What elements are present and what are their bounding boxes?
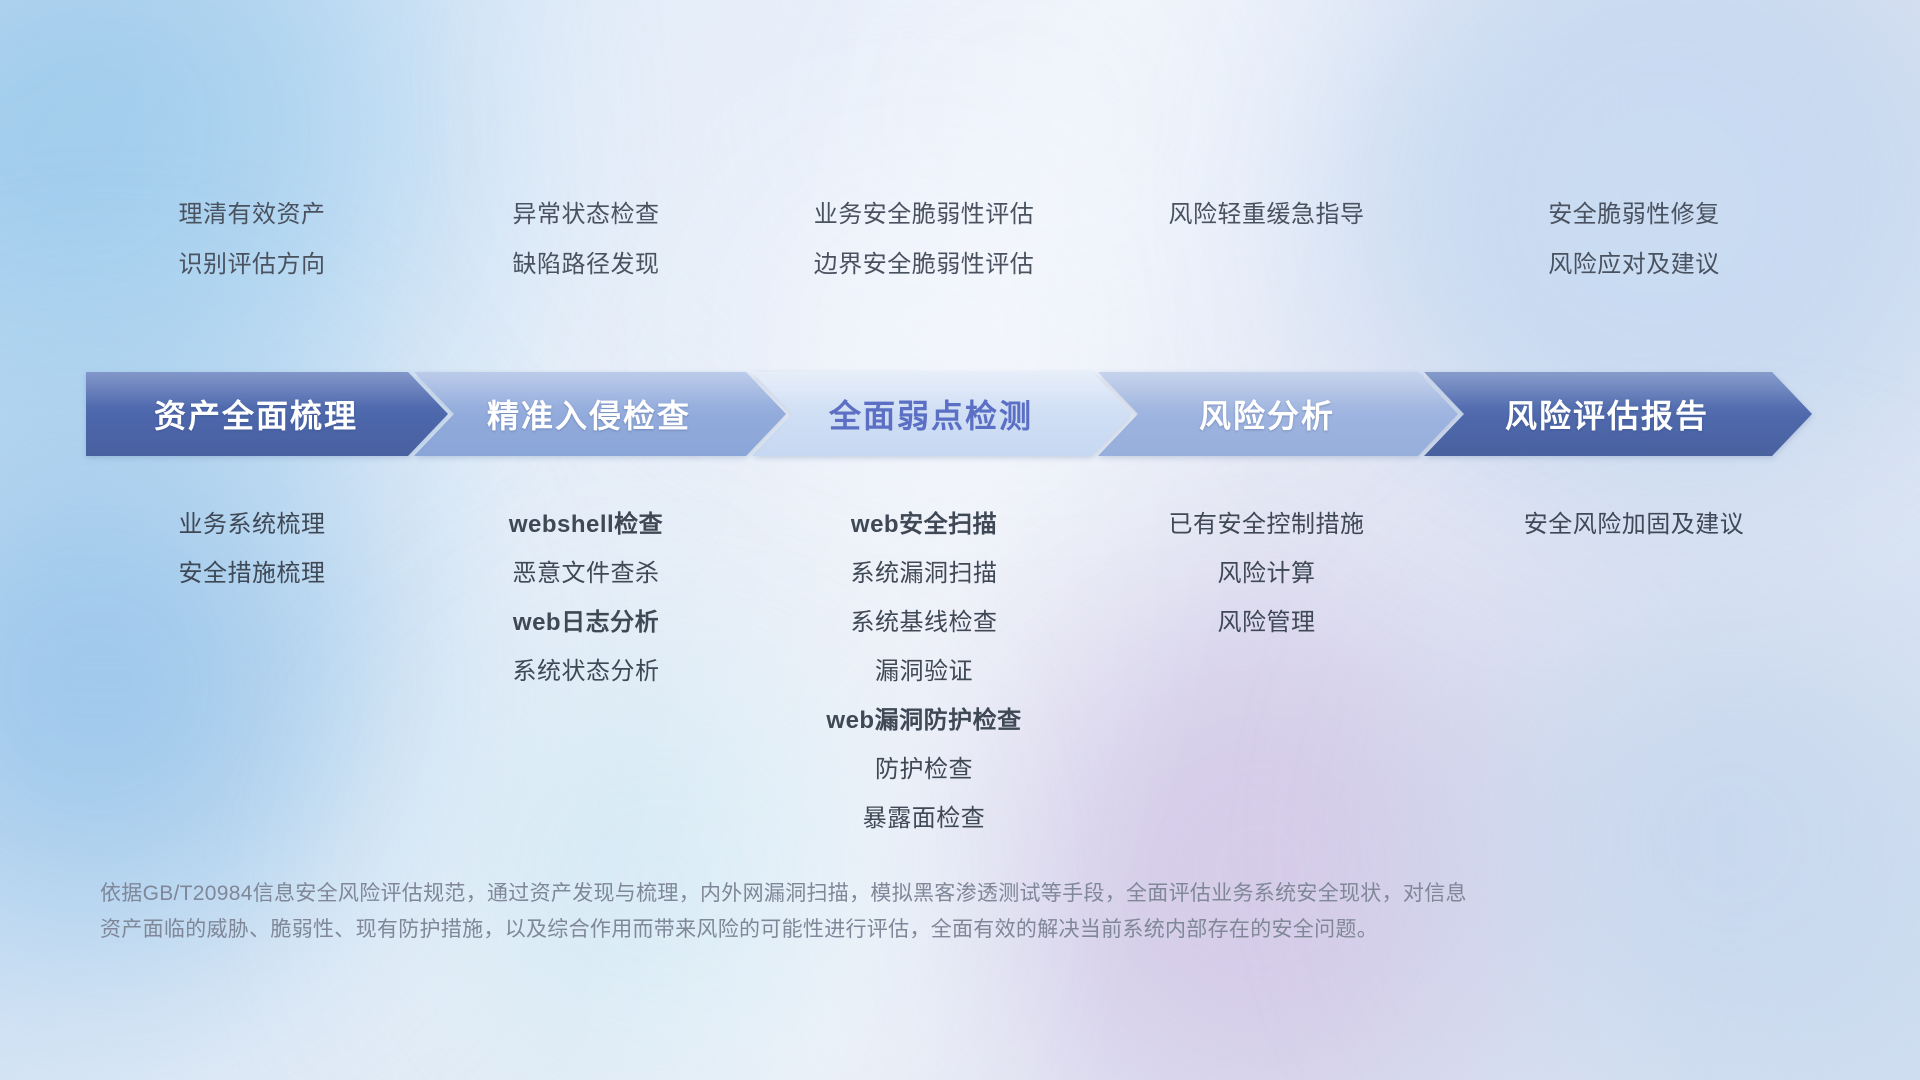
list-item: 恶意文件查杀 (418, 549, 754, 598)
stage-title: 风险分析 (1199, 391, 1357, 437)
top-note: 边界安全脆弱性评估 (754, 240, 1094, 290)
list-item: 已有安全控制措施 (1094, 500, 1439, 549)
stage-title: 资产全面梳理 (154, 391, 380, 437)
top-note: 理清有效资产 (86, 190, 418, 240)
list-item: web安全扫描 (754, 500, 1094, 549)
detail-list-asset-inventory: 业务系统梳理 安全措施梳理 (86, 500, 418, 598)
top-note-col-3: 业务安全脆弱性评估 (754, 190, 1094, 240)
list-item: 业务系统梳理 (86, 500, 418, 549)
top-notes-row-2: 识别评估方向 缺陷路径发现 边界安全脆弱性评估 风险应对及建议 (86, 240, 1846, 290)
stage-title: 风险评估报告 (1505, 391, 1731, 437)
list-item: 系统状态分析 (418, 647, 754, 696)
process-diagram: 理清有效资产 异常状态检查 业务安全脆弱性评估 风险轻重缓急指导 安全脆弱性修复… (0, 0, 1920, 1080)
stage-title: 精准入侵检查 (487, 391, 713, 437)
detail-list-risk-report: 安全风险加固及建议 (1439, 500, 1829, 549)
list-item: 漏洞验证 (754, 647, 1094, 696)
list-item: 风险计算 (1094, 549, 1439, 598)
stage-title: 全面弱点检测 (829, 391, 1055, 437)
top-note: 识别评估方向 (86, 240, 418, 290)
footer-line-1: 依据GB/T20984信息安全风险评估规范，通过资产发现与梳理，内外网漏洞扫描，… (100, 876, 1660, 912)
list-item: 系统基线检查 (754, 598, 1094, 647)
detail-list-weakness-detection: web安全扫描 系统漏洞扫描 系统基线检查 漏洞验证 web漏洞防护检查 防护检… (754, 500, 1094, 843)
top-note-col-1: 识别评估方向 (86, 240, 418, 290)
top-note-col-3: 边界安全脆弱性评估 (754, 240, 1094, 290)
top-note: 安全脆弱性修复 (1439, 190, 1829, 240)
stage-chevron-risk-analysis[interactable]: 风险分析 (1098, 372, 1458, 456)
stage-detail-lists: 业务系统梳理 安全措施梳理 webshell检查 恶意文件查杀 web日志分析 … (86, 500, 1846, 843)
top-note-col-5: 风险应对及建议 (1439, 240, 1829, 290)
list-item: 系统漏洞扫描 (754, 549, 1094, 598)
list-item: 暴露面检查 (754, 794, 1094, 843)
stage-chevron-asset-inventory[interactable]: 资产全面梳理 (86, 372, 448, 456)
top-note-col-1: 理清有效资产 (86, 190, 418, 240)
top-note-col-5: 安全脆弱性修复 (1439, 190, 1829, 240)
stage-chevron-band: 资产全面梳理 精准入侵检查 全面弱点检测 风险分析 风险评估报告 (86, 372, 1846, 456)
top-note: 风险轻重缓急指导 (1094, 190, 1439, 240)
list-item: 防护检查 (754, 745, 1094, 794)
footer-description: 依据GB/T20984信息安全风险评估规范，通过资产发现与梳理，内外网漏洞扫描，… (100, 876, 1660, 948)
detail-list-risk-analysis: 已有安全控制措施 风险计算 风险管理 (1094, 500, 1439, 647)
top-note-col-2: 异常状态检查 (418, 190, 754, 240)
footer-line-2: 资产面临的威胁、脆弱性、现有防护措施，以及综合作用而带来风险的可能性进行评估，全… (100, 912, 1660, 948)
detail-list-intrusion-check: webshell检查 恶意文件查杀 web日志分析 系统状态分析 (418, 500, 754, 696)
stage-chevron-weakness-detection[interactable]: 全面弱点检测 (752, 372, 1132, 456)
top-note-col-4: 风险轻重缓急指导 (1094, 190, 1439, 240)
top-note-col-2: 缺陷路径发现 (418, 240, 754, 290)
list-item: 安全风险加固及建议 (1439, 500, 1829, 549)
top-note: 风险应对及建议 (1439, 240, 1829, 290)
stage-chevron-intrusion-check[interactable]: 精准入侵检查 (414, 372, 786, 456)
list-item: webshell检查 (418, 500, 754, 549)
top-note: 缺陷路径发现 (418, 240, 754, 290)
top-note: 业务安全脆弱性评估 (754, 190, 1094, 240)
top-notes-row-1: 理清有效资产 异常状态检查 业务安全脆弱性评估 风险轻重缓急指导 安全脆弱性修复 (86, 190, 1846, 240)
list-item: web日志分析 (418, 598, 754, 647)
top-note: 异常状态检查 (418, 190, 754, 240)
list-item: 风险管理 (1094, 598, 1439, 647)
list-item: web漏洞防护检查 (754, 696, 1094, 745)
stage-chevron-risk-report[interactable]: 风险评估报告 (1424, 372, 1812, 456)
top-note-col-4 (1094, 240, 1439, 290)
list-item: 安全措施梳理 (86, 549, 418, 598)
